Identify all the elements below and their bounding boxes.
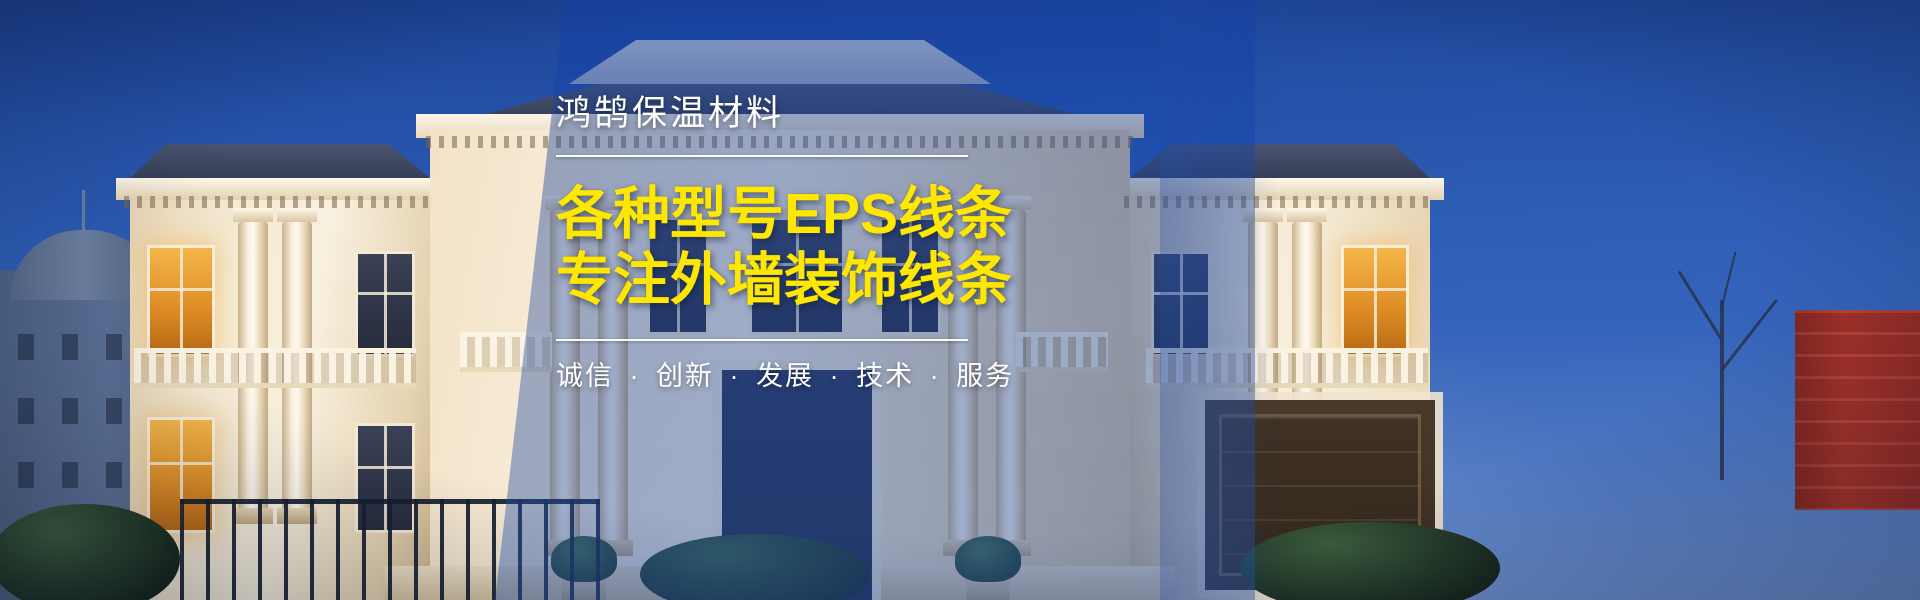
tagline: 诚信 · 创新 · 发展 · 技术 · 服务 (556, 363, 1026, 390)
banner-text-block: 鸿鹄保温材料 各种型号EPS线条 专注外墙装饰线条 诚信 · 创新 · 发展 ·… (556, 96, 1026, 390)
tagline-item-3: 发展 (756, 361, 814, 391)
hero-banner: 鸿鹄保温材料 各种型号EPS线条 专注外墙装饰线条 诚信 · 创新 · 发展 ·… (0, 0, 1920, 600)
tagline-separator-1: · (624, 361, 647, 391)
headline-line-1: 各种型号EPS线条 (556, 183, 1026, 247)
headline-line-2: 专注外墙装饰线条 (556, 249, 1026, 313)
tagline-separator-2: · (724, 361, 747, 391)
tagline-item-5: 服务 (956, 361, 1014, 391)
brand-name: 鸿鹄保温材料 (556, 96, 1026, 131)
bare-tree (1650, 180, 1800, 480)
red-container (1795, 310, 1920, 510)
tagline-item-1: 诚信 (556, 361, 614, 391)
divider-top (556, 155, 968, 157)
tagline-separator-4: · (924, 361, 947, 391)
tagline-item-2: 创新 (656, 361, 714, 391)
tagline-separator-3: · (824, 361, 847, 391)
overlay-fade-edge (1160, 0, 1280, 600)
divider-bottom (556, 339, 968, 341)
tagline-item-4: 技术 (856, 361, 914, 391)
